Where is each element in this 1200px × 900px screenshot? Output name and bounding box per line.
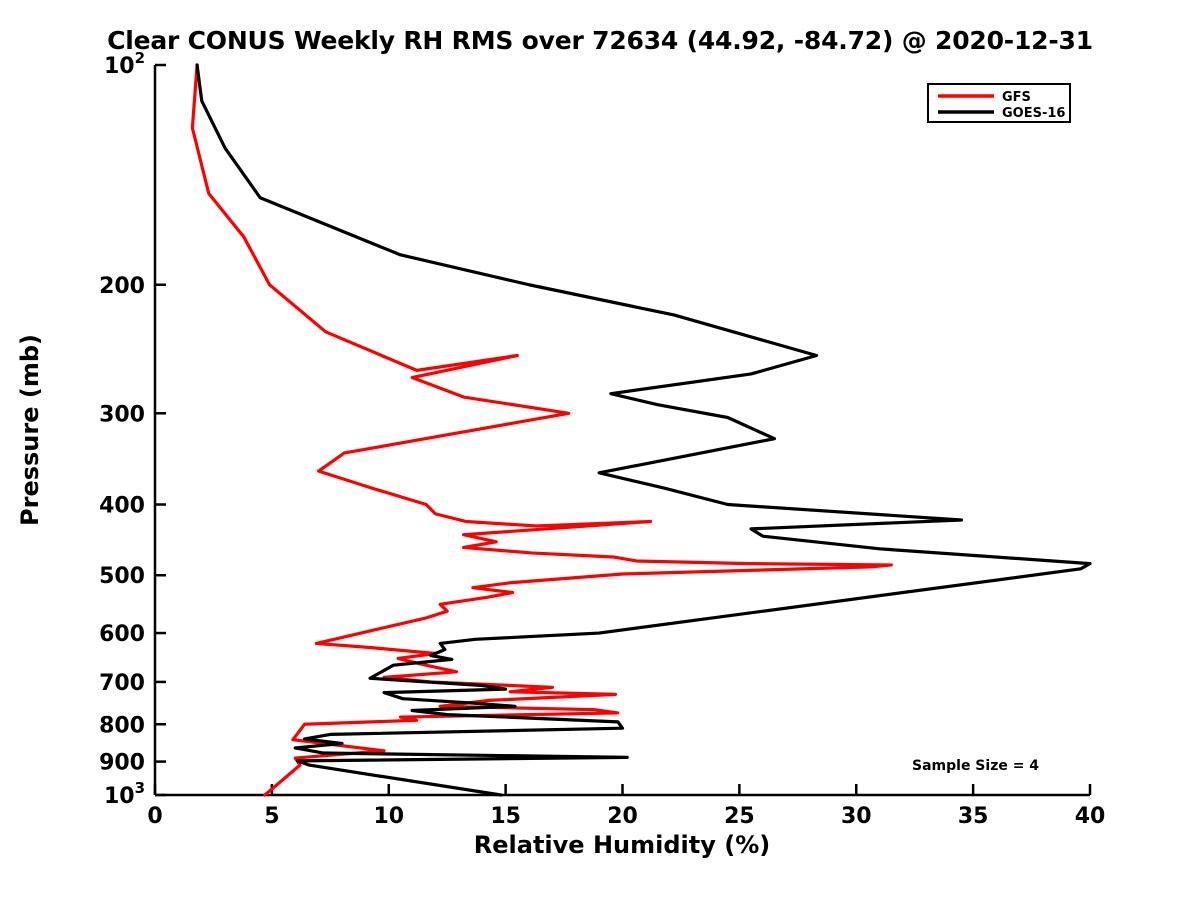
x-axis-tick-labels: 0510152025303540 — [147, 804, 1105, 829]
legend-label-gfs: GFS — [1002, 90, 1031, 105]
y-axis-tick-labels: 102200300400500600700800900103 — [99, 49, 145, 809]
x-tick-label: 20 — [607, 804, 638, 829]
x-axis-label: Relative Humidity (%) — [474, 831, 770, 859]
y-tick-label: 300 — [99, 402, 145, 427]
y-tick-label: 200 — [99, 274, 145, 299]
y-tick-label: 800 — [99, 713, 145, 738]
y-tick-label: 102 — [104, 49, 145, 79]
x-tick-label: 0 — [147, 804, 162, 829]
legend: GFS GOES-16 — [928, 84, 1070, 122]
x-tick-label: 25 — [724, 804, 755, 829]
sample-size-annotation: Sample Size = 4 — [912, 758, 1039, 774]
y-tick-label: 600 — [99, 622, 145, 647]
data-series-group — [192, 65, 1090, 795]
plot-canvas: 102200300400500600700800900103 051015202… — [0, 0, 1200, 900]
y-tick-label: 700 — [99, 671, 145, 696]
x-tick-label: 15 — [490, 804, 521, 829]
x-tick-label: 35 — [958, 804, 989, 829]
axes-frame — [155, 65, 1090, 795]
series-line-gfs — [192, 65, 891, 795]
legend-label-goes16: GOES-16 — [1002, 106, 1065, 121]
x-tick-label: 5 — [264, 804, 279, 829]
chart-figure: Clear CONUS Weekly RH RMS over 72634 (44… — [0, 0, 1200, 900]
y-tick-label: 400 — [99, 494, 145, 519]
y-tick-label: 900 — [99, 751, 145, 776]
x-tick-label: 10 — [373, 804, 404, 829]
x-tick-label: 40 — [1075, 804, 1106, 829]
x-tick-label: 30 — [841, 804, 872, 829]
y-axis-ticks — [155, 65, 166, 795]
y-axis-label: Pressure (mb) — [16, 334, 44, 526]
x-axis-ticks — [155, 784, 1090, 795]
y-tick-label: 103 — [104, 779, 145, 809]
y-tick-label: 500 — [99, 564, 145, 589]
series-line-goes-16 — [197, 65, 1090, 795]
